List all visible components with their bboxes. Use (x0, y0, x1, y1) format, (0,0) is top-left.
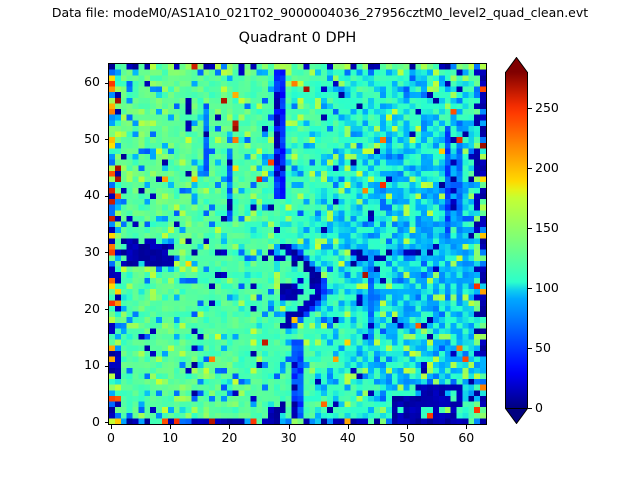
y-tick-label: 10 (58, 357, 100, 372)
colorbar-tick-label: 250 (535, 100, 559, 115)
y-tick (105, 366, 109, 367)
x-tick (407, 425, 408, 429)
x-tick (111, 425, 112, 429)
y-tick-label: 50 (58, 131, 100, 146)
y-tick-label: 40 (58, 187, 100, 202)
y-tick (105, 139, 109, 140)
colorbar-extend-max-arrow (505, 57, 528, 72)
y-tick-label: 0 (58, 414, 100, 429)
colorbar-tick-label: 0 (535, 400, 543, 415)
colorbar-tick (528, 408, 532, 409)
colorbar-tick-label: 200 (535, 160, 559, 175)
colorbar-tick-label: 150 (535, 220, 559, 235)
y-tick-label: 60 (58, 74, 100, 89)
colorbar-extend-min-arrow (505, 408, 528, 423)
colorbar-tick (528, 228, 532, 229)
y-tick (105, 252, 109, 253)
matplotlib-figure: Data file: modeM0/AS1A10_021T02_90000040… (0, 0, 640, 480)
colorbar[interactable] (505, 57, 528, 423)
y-tick (105, 83, 109, 84)
x-tick (289, 425, 290, 429)
y-tick (105, 196, 109, 197)
y-tick (105, 309, 109, 310)
colorbar-gradient-body[interactable] (505, 72, 528, 408)
x-tick (229, 425, 230, 429)
x-tick (170, 425, 171, 429)
x-tick (466, 425, 467, 429)
x-tick-label: 10 (150, 430, 190, 445)
x-tick-label: 30 (269, 430, 309, 445)
x-tick-label: 20 (209, 430, 249, 445)
x-tick-label: 40 (328, 430, 368, 445)
colorbar-tick (528, 108, 532, 109)
colorbar-tick-label: 100 (535, 280, 559, 295)
colorbar-tick (528, 348, 532, 349)
x-tick-label: 0 (91, 430, 131, 445)
dph-heatmap-image[interactable] (109, 64, 486, 424)
data-file-suptitle: Data file: modeM0/AS1A10_021T02_90000040… (0, 5, 640, 20)
x-tick-label: 50 (387, 430, 427, 445)
x-tick-label: 60 (446, 430, 486, 445)
page-title: Quadrant 0 DPH (108, 30, 487, 46)
quadrant-heatmap-axes[interactable] (108, 63, 487, 425)
colorbar-gradient (506, 72, 527, 408)
y-tick-label: 20 (58, 301, 100, 316)
colorbar-tick (528, 168, 532, 169)
colorbar-tick-label: 50 (535, 340, 551, 355)
colorbar-tick (528, 288, 532, 289)
y-tick-label: 30 (58, 244, 100, 259)
x-tick (348, 425, 349, 429)
y-tick (105, 422, 109, 423)
